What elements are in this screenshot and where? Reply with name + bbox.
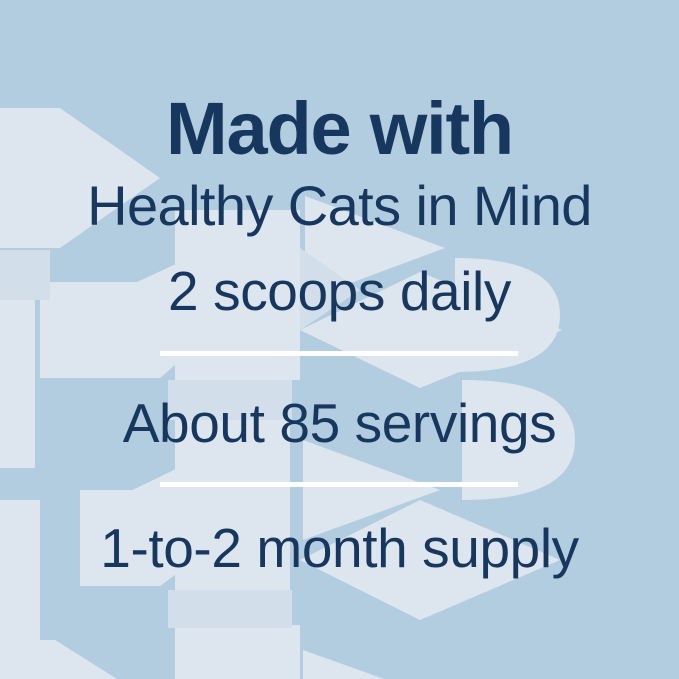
fact-supply-duration: 1-to-2 month supply xyxy=(0,521,679,576)
divider-2 xyxy=(160,482,518,487)
panel-content: Made with Healthy Cats in Mind 2 scoops … xyxy=(0,0,679,679)
fact-servings: About 85 servings xyxy=(0,396,679,451)
divider-1 xyxy=(160,351,518,356)
fact-dosage: 2 scoops daily xyxy=(0,264,679,319)
page-subtitle: Healthy Cats in Mind xyxy=(0,178,679,234)
page-title: Made with xyxy=(0,92,679,166)
product-feature-panel: Made with Healthy Cats in Mind 2 scoops … xyxy=(0,0,679,679)
